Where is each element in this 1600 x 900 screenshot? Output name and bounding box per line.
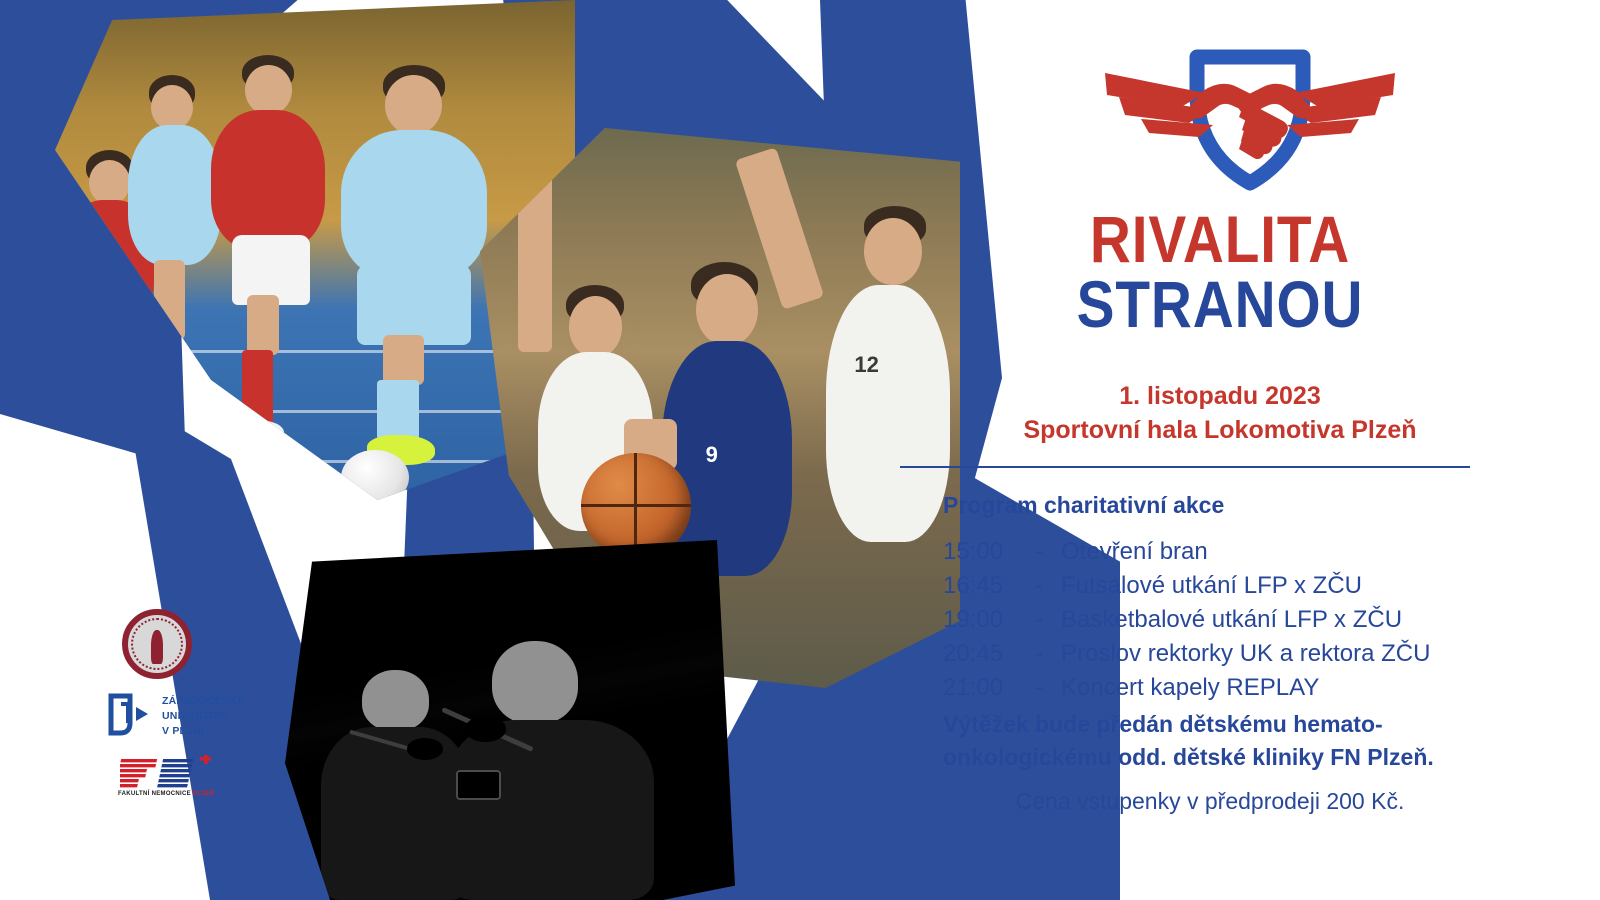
university-of-west-bohemia-logo: ZÁPADOČESKÁ UNIVERZITA V PLZNI <box>108 683 258 749</box>
zcu-line-3: V PLZNI <box>162 724 245 739</box>
program-list: 15:00 - Otevření bran 16:45 - Futsalové … <box>943 535 1430 705</box>
player-sock <box>377 380 419 440</box>
zcu-mark-icon <box>108 693 154 739</box>
zcu-wordmark: ZÁPADOČESKÁ UNIVERZITA V PLZNI <box>162 694 245 740</box>
program-row: 16:45 - Futsalové utkání LFP x ZČU <box>943 569 1430 603</box>
section-divider <box>900 466 1470 468</box>
futsal-ball <box>341 450 409 500</box>
player-shorts <box>357 265 471 345</box>
program-row: 19:00 - Basketbalové utkání LFP x ZČU <box>943 603 1430 637</box>
program-name: Otevření bran <box>1061 535 1430 569</box>
singer-head <box>492 641 578 724</box>
concert-band-photo <box>285 540 735 900</box>
program-dash: - <box>1035 603 1061 637</box>
event-meta: 1. listopadu 2023 Sportovní hala Lokomot… <box>900 380 1540 448</box>
program-dash: - <box>1035 637 1061 671</box>
microphone-head <box>407 738 443 760</box>
program-time: 19:00 <box>943 603 1035 637</box>
faculty-of-medicine-pilsen-seal <box>108 605 258 683</box>
beneficiary-note: Výtěžek bude předán dětskému hemato-onko… <box>943 708 1503 773</box>
sponsor-logos: ZÁPADOČESKÁ UNIVERZITA V PLZNI <box>108 605 258 813</box>
poster-canvas: 9 12 <box>0 0 1600 900</box>
fn-caption-city: PLZEŇ <box>193 791 214 797</box>
wristwatch <box>456 770 501 799</box>
program-time: 21:00 <box>943 671 1035 705</box>
singer-head <box>362 670 430 731</box>
program-name: Koncert kapely REPLAY <box>1061 671 1430 705</box>
program-name: Futsalové utkání LFP x ZČU <box>1061 569 1430 603</box>
program-time: 15:00 <box>943 535 1035 569</box>
program-dash: - <box>1035 671 1061 705</box>
player-torso <box>211 110 325 250</box>
program-row: 15:00 - Otevření bran <box>943 535 1430 569</box>
program-row: 21:00 - Koncert kapely REPLAY <box>943 671 1430 705</box>
ticket-price-note: Cena vstupenky v předprodeji 200 Kč. <box>900 788 1520 815</box>
program-time: 16:45 <box>943 569 1035 603</box>
fn-mark-icon <box>120 755 216 789</box>
seal-ring <box>122 609 192 679</box>
program-row: 20:45 - Proslov rektorky UK a rektora ZČ… <box>943 637 1430 671</box>
player-sock <box>242 350 273 425</box>
player-torso <box>128 125 222 265</box>
program-heading: Program charitativní akce <box>943 492 1224 519</box>
winged-handshake-shield-logo <box>1085 35 1415 195</box>
program-name: Basketbalové utkání LFP x ZČU <box>1061 603 1430 637</box>
player-leg <box>247 295 278 355</box>
event-venue: Sportovní hala Lokomotiva Plzeň <box>900 414 1540 448</box>
title-line-stranou: STRANOU <box>945 271 1495 338</box>
player-head <box>696 274 758 347</box>
fn-caption: FAKULTNÍ NEMOCNICE PLZEŇ <box>118 791 214 797</box>
info-panel: RIVALITA STRANOU 1. listopadu 2023 Sport… <box>900 0 1600 900</box>
poster-title: RIVALITA STRANOU <box>900 208 1540 339</box>
player-leg <box>383 335 425 385</box>
jersey-number-9: 9 <box>706 442 749 504</box>
title-line-rivalita: RIVALITA <box>945 208 1495 271</box>
program-dash: - <box>1035 535 1061 569</box>
player-head <box>245 65 292 115</box>
program-dash: - <box>1035 569 1061 603</box>
zcu-line-2: UNIVERZITA <box>162 709 245 724</box>
program-time: 20:45 <box>943 637 1035 671</box>
seal-figure-icon <box>151 630 163 664</box>
player-head <box>89 160 131 205</box>
program-name: Proslov rektorky UK a rektora ZČU <box>1061 637 1430 671</box>
player-head <box>385 75 442 135</box>
university-hospital-pilsen-logo: FAKULTNÍ NEMOCNICE PLZEŇ <box>108 749 258 813</box>
player-torso <box>341 130 487 280</box>
event-date: 1. listopadu 2023 <box>900 380 1540 414</box>
concert-scene <box>285 540 735 900</box>
microphone-head <box>465 716 506 741</box>
player-shoe <box>232 420 284 445</box>
singer-body <box>447 720 654 900</box>
fn-caption-main: FAKULTNÍ NEMOCNICE <box>118 791 191 797</box>
player-head <box>569 296 622 358</box>
zcu-line-1: ZÁPADOČESKÁ <box>162 694 245 709</box>
player-head <box>151 85 193 130</box>
